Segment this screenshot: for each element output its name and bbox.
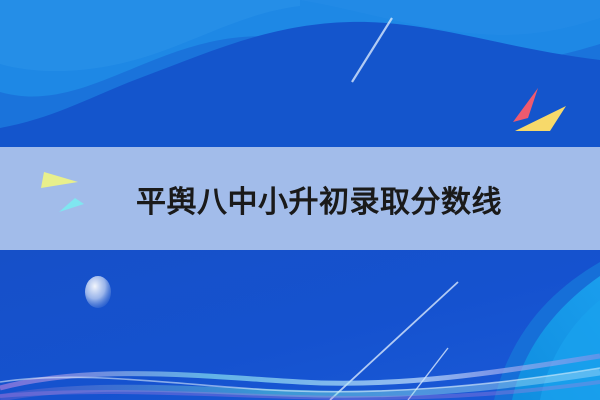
- page-title: 平舆八中小升初录取分数线: [136, 183, 476, 223]
- triangle-lime-icon: [41, 172, 78, 188]
- triangle-red-icon: [513, 88, 538, 122]
- triangle-cyan-icon: [59, 198, 84, 212]
- banner-image: 平舆八中小升初录取分数线: [0, 0, 600, 400]
